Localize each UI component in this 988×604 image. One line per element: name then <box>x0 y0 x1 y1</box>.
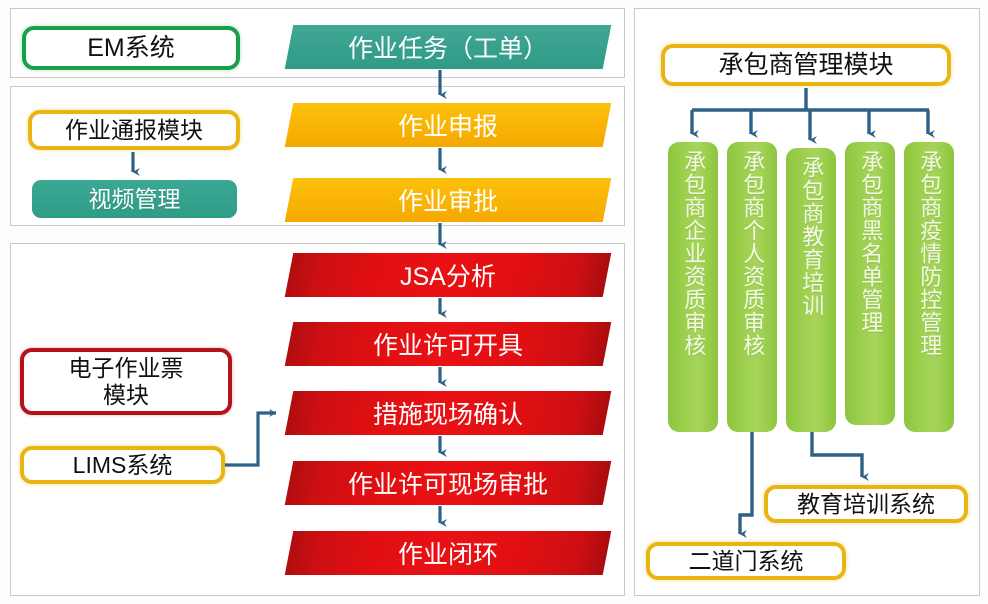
flowchart-canvas: EM系统 作业通报模块 视频管理 电子作业票 模块 LIMS系统 作业任务（工单… <box>0 0 988 604</box>
connectors-right <box>0 0 988 604</box>
